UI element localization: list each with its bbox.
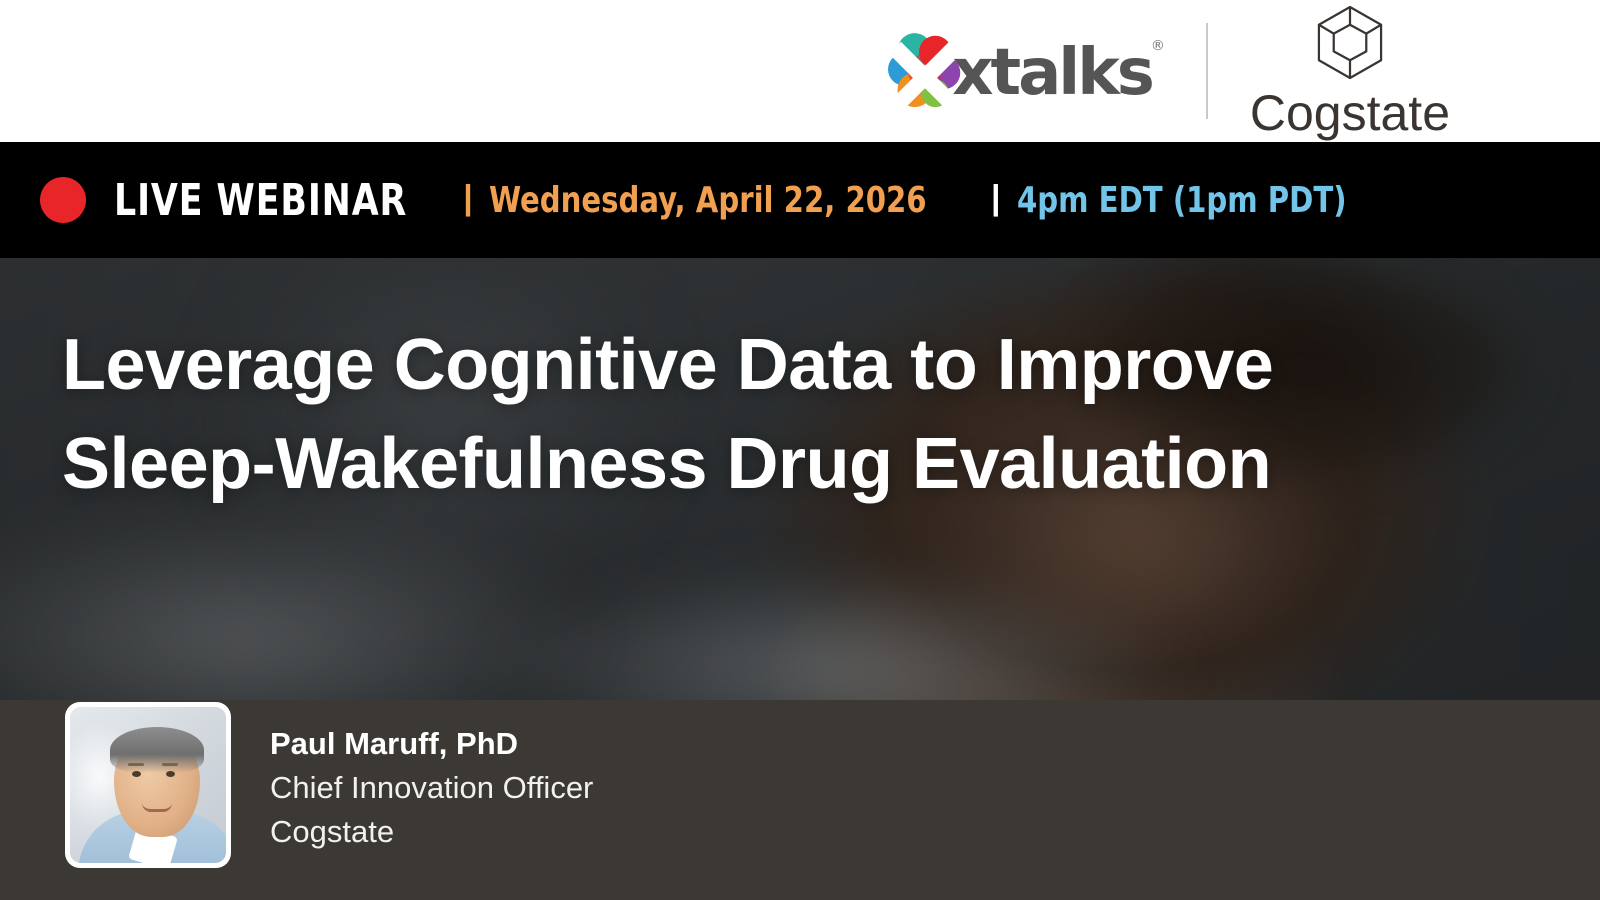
- page-title: Leverage Cognitive Data to Improve Sleep…: [62, 316, 1482, 515]
- xtalks-wordmark-text: xtalks: [952, 36, 1152, 110]
- cogstate-wordmark: Cogstate: [1250, 88, 1450, 138]
- webinar-promo-banner: xtalks®: [0, 0, 1600, 900]
- logo-divider: [1206, 23, 1208, 119]
- cogstate-logo[interactable]: Cogstate: [1250, 4, 1450, 138]
- page-title-line-1: Leverage Cognitive Data to Improve: [62, 316, 1482, 415]
- page-title-line-2: Sleep-Wakefulness Drug Evaluation: [62, 415, 1482, 514]
- webinar-time: 4pm EDT (1pm PDT): [1017, 180, 1347, 221]
- speaker-headshot-image: [70, 707, 226, 863]
- speaker-name: Paul Maruff, PhD: [270, 722, 593, 766]
- speaker-organization: Cogstate: [270, 810, 593, 854]
- registered-trademark-icon: ®: [1151, 38, 1162, 54]
- speaker-footer: Paul Maruff, PhD Chief Innovation Office…: [0, 700, 1600, 900]
- live-red-dot-icon: [40, 177, 86, 223]
- xtalks-wordmark: xtalks®: [952, 41, 1164, 105]
- cube-outline-icon: [1313, 4, 1387, 86]
- live-webinar-bar: LIVE WEBINAR | Wednesday, April 22, 2026…: [0, 142, 1600, 258]
- speaker-details: Paul Maruff, PhD Chief Innovation Office…: [270, 722, 593, 854]
- separator-2: |: [991, 179, 1001, 218]
- separator-1: |: [463, 179, 473, 218]
- logo-bar: xtalks®: [0, 0, 1600, 142]
- logo-group: xtalks®: [882, 4, 1450, 138]
- xtalks-logo[interactable]: xtalks®: [882, 28, 1164, 114]
- avatar: [65, 702, 231, 868]
- speaker-role: Chief Innovation Officer: [270, 766, 593, 810]
- webinar-date: Wednesday, April 22, 2026: [489, 180, 927, 221]
- live-webinar-label: LIVE WEBINAR: [114, 175, 407, 226]
- hero-section: Leverage Cognitive Data to Improve Sleep…: [0, 258, 1600, 700]
